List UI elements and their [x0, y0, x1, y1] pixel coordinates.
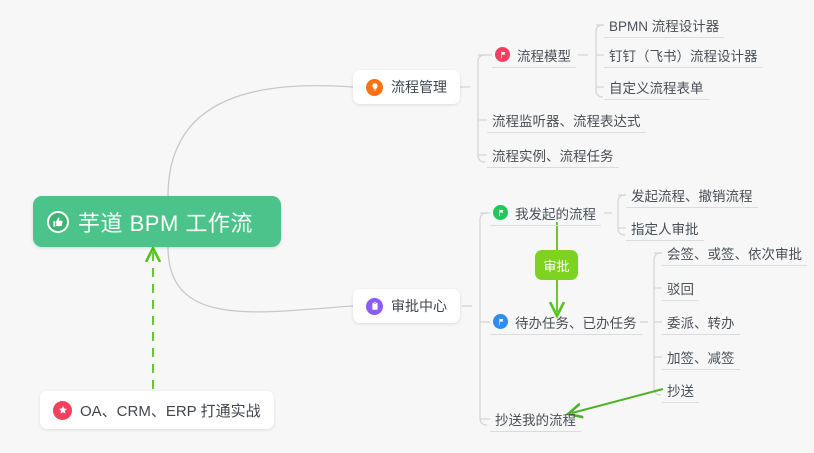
edge-process-management-bracket: [457, 55, 485, 162]
leaf-label-carbon-copy: 抄送: [667, 380, 694, 400]
leaf-label-bpmn-designer: BPMN 流程设计器: [609, 15, 719, 35]
leaf-label-process-listener-expression: 流程监听器、流程表达式: [492, 110, 641, 130]
mindmap-canvas: 芋道 BPM 工作流 流程管理 流程模型 流程监听器、流程表达式 流程实例、流程…: [0, 0, 814, 453]
flag-icon: [495, 47, 510, 62]
leaf-reject[interactable]: 驳回: [662, 275, 699, 301]
flag-icon: [493, 205, 508, 220]
edge-root-to-approval-center: [168, 247, 353, 312]
star-icon: [53, 401, 72, 420]
leaf-delegate-transfer[interactable]: 委派、转办: [662, 309, 740, 335]
edge-my-initiated-bracket: [604, 195, 625, 235]
leaf-dingtalk-feishu-designer[interactable]: 钉钉（飞书）流程设计器: [604, 42, 763, 68]
leaf-countersign-or-sequential[interactable]: 会签、或签、依次审批: [662, 240, 807, 266]
branch-label-process-management: 流程管理: [391, 77, 447, 97]
leaf-label-process-instance-task: 流程实例、流程任务: [492, 145, 614, 165]
leaf-label-start-cancel-process: 发起流程、撤销流程: [631, 185, 753, 205]
approval-chip[interactable]: 审批: [535, 250, 578, 280]
leaf-assignee-approval[interactable]: 指定人审批: [626, 215, 704, 241]
branch-label-approval-center: 审批中心: [391, 296, 447, 316]
leaf-label-assignee-approval: 指定人审批: [631, 218, 699, 238]
edge-root-to-process-management: [168, 86, 353, 196]
leaf-process-instance-task[interactable]: 流程实例、流程任务: [487, 142, 619, 168]
leaf-label-reject: 驳回: [667, 278, 694, 298]
floating-node-label-oa-crm-erp: OA、CRM、ERP 打通实战: [80, 400, 261, 421]
leaf-carbon-copy[interactable]: 抄送: [662, 377, 699, 403]
leaf-custom-process-form[interactable]: 自定义流程表单: [604, 74, 709, 100]
leaf-todo-done-tasks[interactable]: 待办任务、已办任务: [490, 309, 642, 335]
root-node-label: 芋道 BPM 工作流: [78, 206, 253, 238]
branch-node-process-management[interactable]: 流程管理: [353, 70, 460, 104]
root-node[interactable]: 芋道 BPM 工作流: [33, 196, 281, 247]
leaf-my-initiated-process[interactable]: 我发起的流程: [490, 200, 601, 226]
leaf-label-my-initiated-process: 我发起的流程: [515, 203, 596, 223]
leaf-label-custom-process-form: 自定义流程表单: [609, 77, 704, 97]
leaf-label-todo-done-tasks: 待办任务、已办任务: [515, 312, 637, 332]
arrow-cc-to-my-cc-process: [572, 389, 663, 413]
document-icon: [366, 298, 383, 315]
leaf-label-add-remove-sign: 加签、减签: [667, 347, 735, 367]
leaf-process-model[interactable]: 流程模型: [492, 42, 576, 68]
leaf-label-delegate-transfer: 委派、转办: [667, 312, 735, 332]
leaf-label-countersign-or-sequential: 会签、或签、依次审批: [667, 243, 802, 263]
approval-chip-label: 审批: [543, 256, 569, 275]
edge-todo-done-bracket: [640, 253, 661, 395]
leaf-process-listener-expression[interactable]: 流程监听器、流程表达式: [487, 107, 646, 133]
floating-node-oa-crm-erp[interactable]: OA、CRM、ERP 打通实战: [40, 391, 274, 429]
flag-icon: [493, 314, 508, 329]
branch-node-approval-center[interactable]: 审批中心: [353, 289, 460, 323]
leaf-label-process-model: 流程模型: [517, 45, 571, 65]
edge-process-model-bracket: [578, 25, 603, 97]
leaf-label-cc-to-me-process: 抄送我的流程: [495, 409, 576, 429]
leaf-bpmn-designer[interactable]: BPMN 流程设计器: [604, 12, 724, 38]
thumbs-up-icon: [47, 211, 69, 233]
lightbulb-icon: [366, 79, 383, 96]
edge-approval-center-bracket: [462, 213, 487, 425]
leaf-add-remove-sign[interactable]: 加签、减签: [662, 344, 740, 370]
leaf-cc-to-me-process[interactable]: 抄送我的流程: [490, 406, 581, 432]
leaf-start-cancel-process[interactable]: 发起流程、撤销流程: [626, 182, 758, 208]
leaf-label-dingtalk-feishu-designer: 钉钉（飞书）流程设计器: [609, 45, 758, 65]
